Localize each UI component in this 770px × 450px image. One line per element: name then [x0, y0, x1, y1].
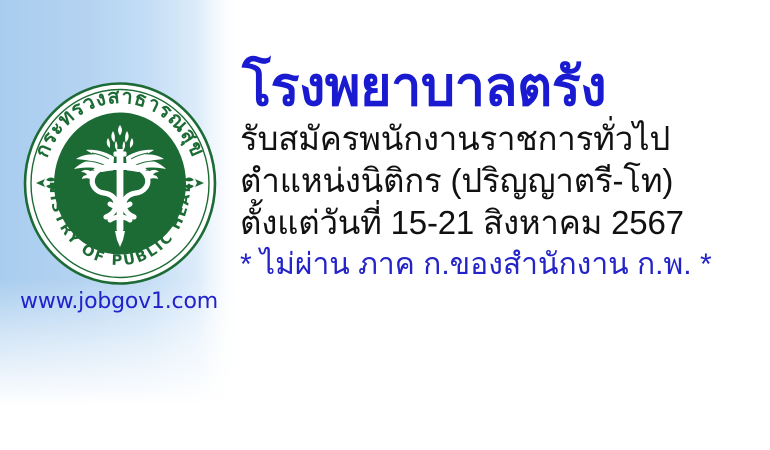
job-announcement-banner: กระทรวงสาธารณสุข MINISTRY OF PUBLIC HEAL…: [0, 0, 770, 450]
announcement-line-1: รับสมัครพนักงานราชการทั่วไป: [240, 118, 770, 160]
ministry-of-public-health-logo: กระทรวงสาธารณสุข MINISTRY OF PUBLIC HEAL…: [20, 81, 220, 286]
announcement-text-block: โรงพยาบาลตรัง รับสมัครพนักงานราชการทั่วไ…: [238, 56, 770, 286]
announcement-line-3-dates: ตั้งแต่วันที่ 15-21 สิงหาคม 2567: [240, 202, 770, 244]
announcement-line-2: ตำแหน่งนิติกร (ปริญญาตรี-โท): [240, 160, 770, 202]
page-title: โรงพยาบาลตรัง: [242, 56, 770, 118]
site-url-text: www.jobgov1.com: [8, 289, 230, 314]
ministry-seal-icon: กระทรวงสาธารณสุข MINISTRY OF PUBLIC HEAL…: [20, 81, 220, 286]
announcement-note: * ไม่ผ่าน ภาค ก.ของสำนักงาน ก.พ. *: [240, 244, 770, 286]
